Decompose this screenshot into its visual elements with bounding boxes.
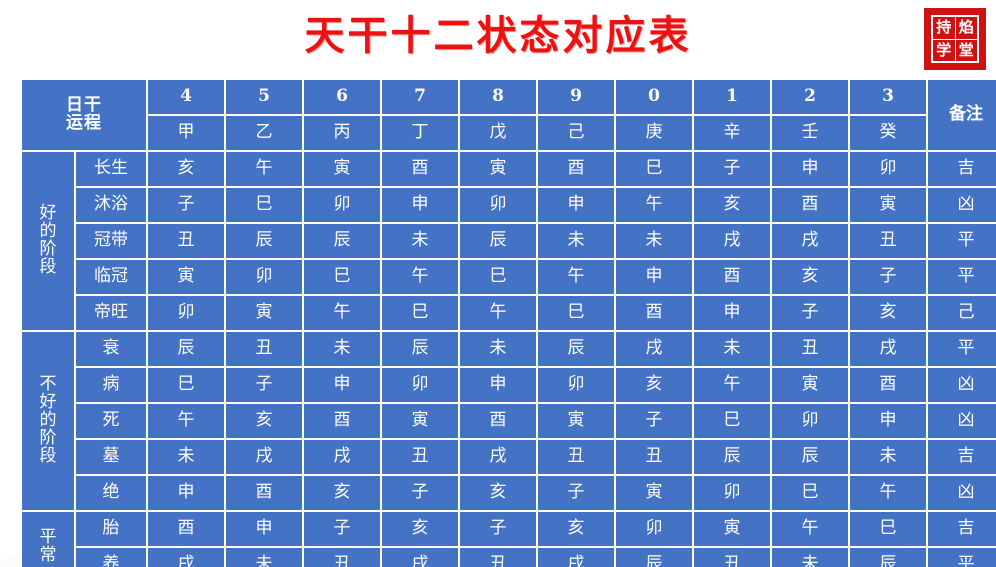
branch-cell: 午 [148,404,224,438]
table-row: 帝旺卯寅午巳午巳酉申子亥己 [22,296,996,330]
branch-cell: 寅 [538,404,614,438]
table-row: 不好的阶段衰辰丑未辰未辰戌未丑戌平 [22,332,996,366]
branch-cell: 丑 [226,332,302,366]
branch-cell: 申 [616,260,692,294]
branch-cell: 未 [538,224,614,258]
branch-cell: 申 [538,188,614,222]
table-row: 绝申酉亥子亥子寅卯巳午凶 [22,476,996,510]
header-number-cell: 4 [148,80,224,114]
branch-cell: 辰 [304,224,380,258]
stage-label-cell: 胎 [76,512,146,546]
branch-cell: 申 [460,368,536,402]
row-group-label: 好的阶段 [22,152,74,330]
branch-cell: 巳 [850,512,926,546]
branch-cell: 酉 [460,404,536,438]
header-stem-cell: 辛 [694,116,770,150]
stage-label-cell: 墓 [76,440,146,474]
stage-label-cell: 绝 [76,476,146,510]
branch-cell: 午 [616,188,692,222]
slide-canvas: 天干十二状态对应表 持 焰 学 堂 日干运程4567890123备注甲乙丙丁戊己… [0,0,996,567]
branch-cell: 丑 [850,224,926,258]
row-group-label: 不好的阶段 [22,332,74,510]
header-stem-cell: 癸 [850,116,926,150]
header-number-cell: 0 [616,80,692,114]
branch-cell: 午 [772,512,848,546]
branch-cell: 子 [382,476,458,510]
seal-char-1: 持 [933,17,955,39]
branch-cell: 子 [148,188,224,222]
branch-cell: 巳 [226,188,302,222]
header-stem-cell: 己 [538,116,614,150]
branch-cell: 酉 [148,512,224,546]
branch-cell: 丑 [460,548,536,567]
branch-cell: 巳 [304,260,380,294]
branch-cell: 子 [616,404,692,438]
branch-cell: 寅 [226,296,302,330]
seal-inner-frame: 持 焰 学 堂 [931,15,979,63]
branch-cell: 戌 [616,332,692,366]
branch-cell: 寅 [148,260,224,294]
branch-cell: 未 [304,332,380,366]
stage-label-cell: 冠带 [76,224,146,258]
branch-cell: 未 [382,224,458,258]
branch-cell: 卯 [304,188,380,222]
branch-cell: 辰 [460,224,536,258]
branch-cell: 丑 [304,548,380,567]
branch-cell: 酉 [694,260,770,294]
branch-cell: 丑 [694,548,770,567]
branch-cell: 酉 [304,404,380,438]
header-stem-cell: 丁 [382,116,458,150]
branch-cell: 卯 [148,296,224,330]
branch-cell: 戌 [850,332,926,366]
branch-cell: 巳 [148,368,224,402]
table-row: 平常胎酉申子亥子亥卯寅午巳吉 [22,512,996,546]
seal-char-4: 堂 [956,40,978,62]
note-cell: 凶 [928,188,996,222]
note-cell: 己 [928,296,996,330]
branch-cell: 亥 [538,512,614,546]
branch-cell: 申 [772,152,848,186]
note-cell: 吉 [928,440,996,474]
header-number-cell: 9 [538,80,614,114]
note-cell: 凶 [928,368,996,402]
branch-cell: 寅 [850,188,926,222]
header-number-cell: 3 [850,80,926,114]
branch-cell: 寅 [616,476,692,510]
branch-cell: 午 [304,296,380,330]
header-stem-cell: 乙 [226,116,302,150]
branch-cell: 申 [226,512,302,546]
branch-cell: 申 [382,188,458,222]
branch-cell: 酉 [772,188,848,222]
note-cell: 凶 [928,476,996,510]
header-number-cell: 7 [382,80,458,114]
correspondence-table-wrapper: 日干运程4567890123备注甲乙丙丁戊己庚辛壬癸好的阶段长生亥午寅酉寅酉巳子… [20,78,976,567]
correspondence-table: 日干运程4567890123备注甲乙丙丁戊己庚辛壬癸好的阶段长生亥午寅酉寅酉巳子… [20,78,996,567]
branch-cell: 未 [694,332,770,366]
stage-label-cell: 沐浴 [76,188,146,222]
branch-cell: 辰 [616,548,692,567]
branch-cell: 子 [538,476,614,510]
seal-char-3: 学 [933,40,955,62]
branch-cell: 申 [694,296,770,330]
branch-cell: 巳 [538,296,614,330]
branch-cell: 戌 [226,440,302,474]
header-note-cell: 备注 [928,80,996,150]
branch-cell: 卯 [538,368,614,402]
branch-cell: 戌 [538,548,614,567]
branch-cell: 酉 [850,368,926,402]
branch-cell: 子 [226,368,302,402]
branch-cell: 亥 [850,296,926,330]
branch-cell: 未 [148,440,224,474]
branch-cell: 午 [382,260,458,294]
header-stem-cell: 庚 [616,116,692,150]
stage-label-cell: 衰 [76,332,146,366]
branch-cell: 辰 [382,332,458,366]
branch-cell: 巳 [694,404,770,438]
branch-cell: 未 [850,440,926,474]
branch-cell: 辰 [850,548,926,567]
branch-cell: 亥 [616,368,692,402]
branch-cell: 酉 [382,152,458,186]
branch-cell: 酉 [226,476,302,510]
branch-cell: 辰 [226,224,302,258]
branch-cell: 戌 [148,548,224,567]
branch-cell: 亥 [304,476,380,510]
stage-label-cell: 长生 [76,152,146,186]
branch-cell: 卯 [694,476,770,510]
branch-cell: 辰 [538,332,614,366]
header-number-cell: 6 [304,80,380,114]
branch-cell: 寅 [304,152,380,186]
branch-cell: 卯 [616,512,692,546]
stage-label-cell: 帝旺 [76,296,146,330]
branch-cell: 戌 [772,224,848,258]
branch-cell: 巳 [460,260,536,294]
header-number-cell: 8 [460,80,536,114]
row-group-label-char: 段 [22,259,74,277]
branch-cell: 戌 [382,548,458,567]
branch-cell: 丑 [616,440,692,474]
note-cell: 凶 [928,404,996,438]
branch-cell: 未 [226,548,302,567]
branch-cell: 未 [616,224,692,258]
branch-cell: 申 [850,404,926,438]
header-number-cell: 5 [226,80,302,114]
note-cell: 平 [928,224,996,258]
branch-cell: 丑 [772,332,848,366]
branch-cell: 申 [148,476,224,510]
branch-cell: 亥 [460,476,536,510]
stage-label-cell: 临冠 [76,260,146,294]
branch-cell: 卯 [226,260,302,294]
branch-cell: 卯 [460,188,536,222]
table-row: 好的阶段长生亥午寅酉寅酉巳子申卯吉 [22,152,996,186]
branch-cell: 亥 [772,260,848,294]
branch-cell: 申 [304,368,380,402]
header-stem-cell: 壬 [772,116,848,150]
branch-cell: 卯 [850,152,926,186]
branch-cell: 未 [460,332,536,366]
seal-char-2: 焰 [956,17,978,39]
table-row: 死午亥酉寅酉寅子巳卯申凶 [22,404,996,438]
header-stem-cell: 甲 [148,116,224,150]
page-title: 天干十二状态对应表 [0,10,996,62]
header-corner-line2: 运程 [22,115,146,133]
branch-cell: 寅 [772,368,848,402]
note-cell: 平 [928,260,996,294]
branch-cell: 丑 [382,440,458,474]
branch-cell: 亥 [382,512,458,546]
branch-cell: 子 [850,260,926,294]
branch-cell: 巳 [382,296,458,330]
table-row: 沐浴子巳卯申卯申午亥酉寅凶 [22,188,996,222]
header-stem-cell: 丙 [304,116,380,150]
branch-cell: 子 [772,296,848,330]
branch-cell: 寅 [382,404,458,438]
branch-cell: 辰 [772,440,848,474]
branch-cell: 亥 [694,188,770,222]
branch-cell: 丑 [538,440,614,474]
branch-cell: 丑 [148,224,224,258]
header-stem-cell: 戊 [460,116,536,150]
branch-cell: 寅 [694,512,770,546]
branch-cell: 酉 [616,296,692,330]
stage-label-cell: 死 [76,404,146,438]
branch-cell: 子 [460,512,536,546]
branch-cell: 卯 [772,404,848,438]
header-number-cell: 2 [772,80,848,114]
branch-cell: 子 [694,152,770,186]
branch-cell: 亥 [226,404,302,438]
branch-cell: 辰 [694,440,770,474]
table-row: 病巳子申卯申卯亥午寅酉凶 [22,368,996,402]
seal-stamp: 持 焰 学 堂 [924,8,986,70]
branch-cell: 寅 [460,152,536,186]
branch-cell: 午 [694,368,770,402]
note-cell: 吉 [928,512,996,546]
branch-cell: 午 [538,260,614,294]
branch-cell: 戌 [460,440,536,474]
branch-cell: 巳 [616,152,692,186]
branch-cell: 辰 [148,332,224,366]
branch-cell: 未 [772,548,848,567]
branch-cell: 戌 [694,224,770,258]
table-header-row-numbers: 日干运程4567890123备注 [22,80,996,114]
branch-cell: 戌 [304,440,380,474]
branch-cell: 午 [460,296,536,330]
note-cell: 平 [928,548,996,567]
stage-label-cell: 病 [76,368,146,402]
table-header-row-stems: 甲乙丙丁戊己庚辛壬癸 [22,116,996,150]
table-row: 墓未戌戌丑戌丑丑辰辰未吉 [22,440,996,474]
note-cell: 平 [928,332,996,366]
header-number-cell: 1 [694,80,770,114]
branch-cell: 酉 [538,152,614,186]
note-cell: 吉 [928,152,996,186]
table-row: 临冠寅卯巳午巳午申酉亥子平 [22,260,996,294]
table-row: 养戌未丑戌丑戌辰丑未辰平 [22,548,996,567]
header-corner-cell: 日干运程 [22,80,146,150]
branch-cell: 午 [226,152,302,186]
branch-cell: 子 [304,512,380,546]
row-group-label-char: 常 [22,547,74,565]
table-row: 冠带丑辰辰未辰未未戌戌丑平 [22,224,996,258]
stage-label-cell: 养 [76,548,146,567]
row-group-label: 平常 [22,512,74,567]
branch-cell: 巳 [772,476,848,510]
row-group-label-char: 段 [22,448,74,466]
branch-cell: 卯 [382,368,458,402]
branch-cell: 亥 [148,152,224,186]
branch-cell: 午 [850,476,926,510]
